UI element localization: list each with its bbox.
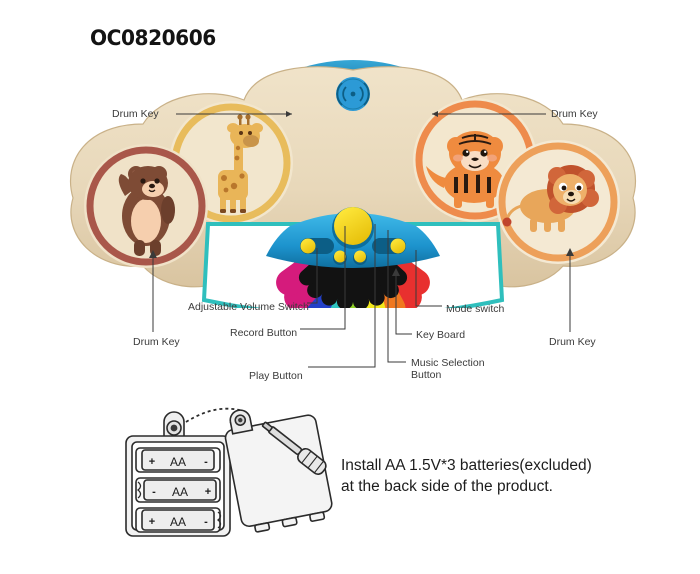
callout-key-board: Key Board xyxy=(416,329,465,341)
battery-2-plus: + xyxy=(205,486,211,498)
battery-3-minus: - xyxy=(204,516,208,528)
battery-3-plus: + xyxy=(149,516,155,528)
battery-instruction-text: Install AA 1.5V*3 batteries(excluded) at… xyxy=(341,455,661,497)
battery-1-minus: - xyxy=(204,456,208,468)
battery-1-plus: + xyxy=(149,456,155,468)
drum-pad-bear[interactable] xyxy=(84,144,208,268)
callout-drum-key-bottom-right: Drum Key xyxy=(549,336,596,348)
callout-mode-switch: Mode switch xyxy=(446,303,504,315)
callout-adjustable-volume-switch: Adjustable Volume Switch xyxy=(188,301,309,313)
mode-switch-knob[interactable] xyxy=(332,207,374,249)
callout-drum-key-top-right: Drum Key xyxy=(551,108,598,120)
callout-music-selection-button: Music Selection Button xyxy=(411,357,507,381)
callout-play-button: Play Button xyxy=(249,370,303,382)
battery-2-label: AA xyxy=(172,485,188,499)
battery-note-line1: Install AA 1.5V*3 batteries(excluded) xyxy=(341,455,661,476)
adjustable-volume-switch[interactable] xyxy=(300,238,334,254)
callout-drum-key-top-left: Drum Key xyxy=(112,108,159,120)
callout-music-selection-line1: Music Selection xyxy=(411,357,485,369)
battery-installation-diagram: + AA - - AA + + AA - xyxy=(118,398,338,560)
toy-illustration xyxy=(58,48,648,308)
callout-drum-key-bottom-left: Drum Key xyxy=(133,336,180,348)
callout-record-button: Record Button xyxy=(230,327,297,339)
battery-2-minus: - xyxy=(152,486,156,498)
speaker-icon xyxy=(336,77,370,111)
page-title: OC0820606 xyxy=(90,26,216,50)
product-instruction-sheet: OC0820606 xyxy=(0,0,700,574)
battery-1-label: AA xyxy=(170,455,186,469)
battery-3-label: AA xyxy=(170,515,186,529)
callout-music-selection-line2: Button xyxy=(411,369,441,381)
drum-pad-lion[interactable] xyxy=(496,140,620,264)
mode-slider-switch[interactable] xyxy=(372,238,406,254)
screw-boss-icon xyxy=(164,412,184,438)
battery-note-line2: at the back side of the product. xyxy=(341,476,661,497)
